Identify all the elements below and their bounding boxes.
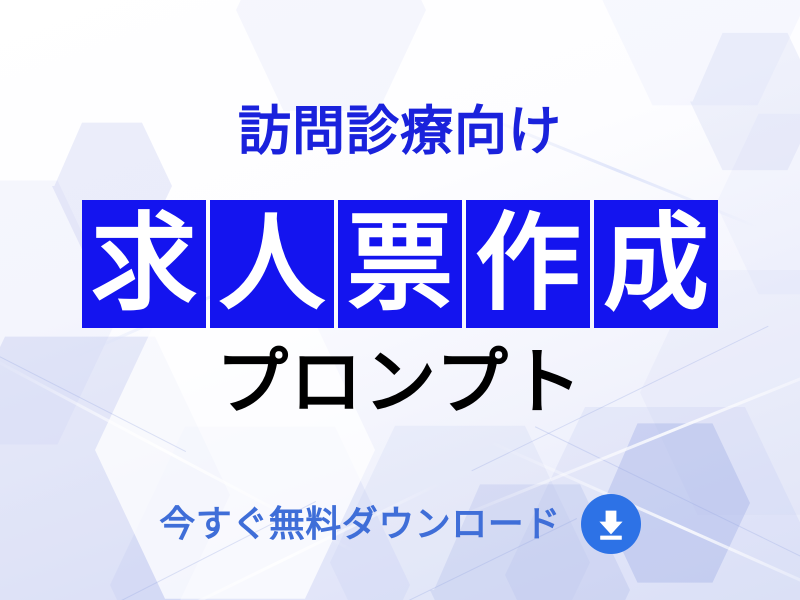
headline-char-box: 人	[210, 200, 334, 328]
download-circle-icon[interactable]	[581, 494, 641, 554]
promo-banner: 訪問診療向け 求 人 票 作 成 プロンプト 今すぐ無料ダウンロード	[0, 0, 800, 600]
headline-char-box: 票	[338, 200, 462, 328]
banner-content: 訪問診療向け 求 人 票 作 成 プロンプト 今すぐ無料ダウンロード	[0, 0, 800, 600]
cta-label: 今すぐ無料ダウンロード	[159, 506, 561, 542]
subheadline-text: プロンプト	[0, 347, 800, 419]
headline: 求 人 票 作 成	[0, 200, 800, 328]
headline-char-box: 成	[594, 200, 718, 328]
headline-char-box: 求	[82, 200, 206, 328]
eyebrow-text: 訪問診療向け	[0, 105, 800, 158]
cta-group[interactable]: 今すぐ無料ダウンロード	[0, 494, 800, 554]
headline-char-box: 作	[466, 200, 590, 328]
